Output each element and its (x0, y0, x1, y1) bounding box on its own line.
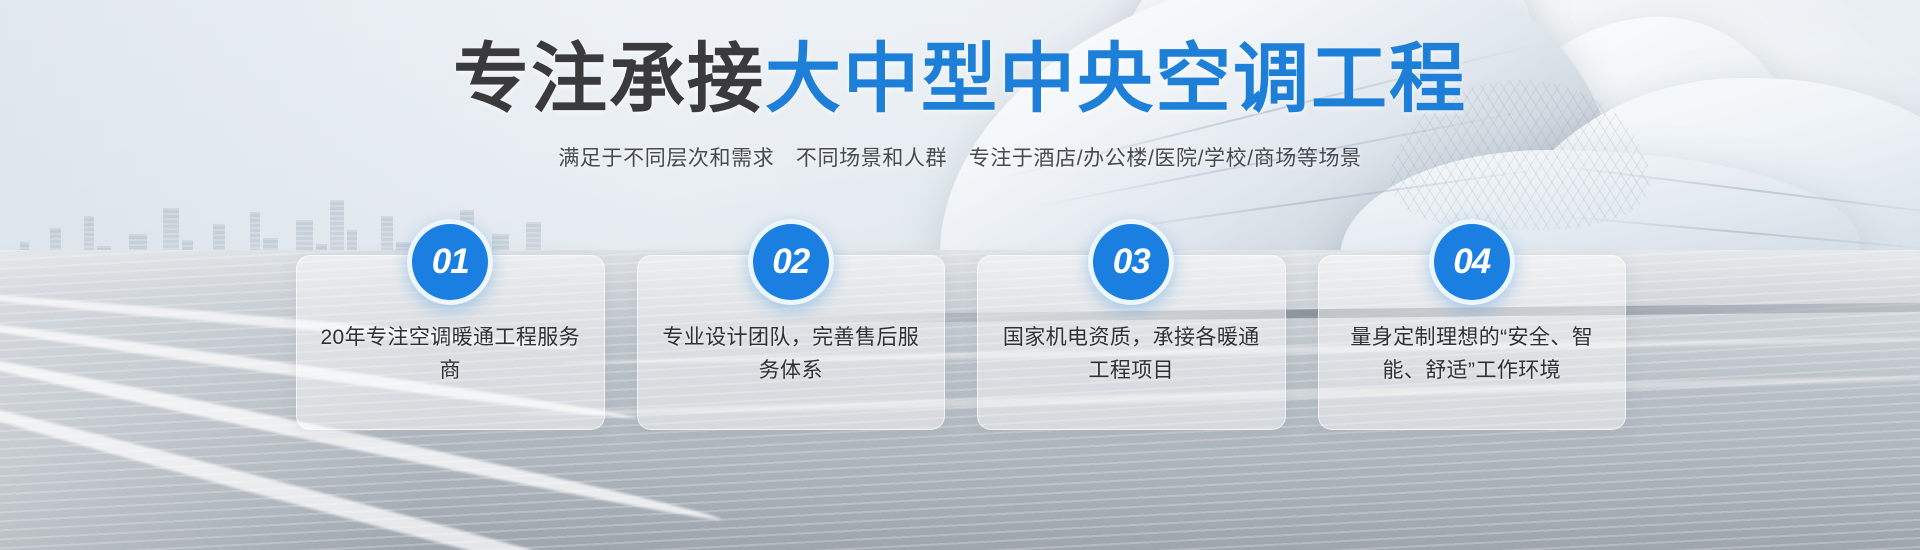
banner-content: 专注承接大中型中央空调工程 满足于不同层次和需求 不同场景和人群 专注于酒店/办… (0, 0, 1920, 550)
feature-card-02[interactable]: 02 专业设计团队，完善售后服务体系 (637, 255, 946, 430)
banner-subheadline: 满足于不同层次和需求 不同场景和人群 专注于酒店/办公楼/医院/学校/商场等场景 (0, 142, 1920, 172)
feature-card-01[interactable]: 01 20年专注空调暖通工程服务商 (296, 255, 605, 430)
card-text: 专业设计团队，完善售后服务体系 (656, 322, 927, 387)
card-text: 20年专注空调暖通工程服务商 (315, 322, 586, 387)
feature-card-list: 01 20年专注空调暖通工程服务商 02 专业设计团队，完善售后服务体系 03 … (296, 255, 1626, 430)
hero-banner: 专注承接大中型中央空调工程 满足于不同层次和需求 不同场景和人群 专注于酒店/办… (0, 0, 1920, 550)
banner-headline: 专注承接大中型中央空调工程 (0, 42, 1920, 118)
card-number-badge: 01 (407, 219, 493, 305)
headline-blue-text: 大中型中央空调工程 (765, 37, 1467, 122)
feature-card-03[interactable]: 03 国家机电资质，承接各暖通工程项目 (977, 255, 1286, 430)
card-number-badge: 04 (1429, 219, 1515, 305)
card-text: 国家机电资质，承接各暖通工程项目 (996, 322, 1267, 387)
card-text: 量身定制理想的“安全、智能、舒适”工作环境 (1337, 322, 1608, 387)
headline-dark-text: 专注承接 (453, 37, 765, 122)
card-number-badge: 03 (1088, 219, 1174, 305)
feature-card-04[interactable]: 04 量身定制理想的“安全、智能、舒适”工作环境 (1318, 255, 1627, 430)
card-number-badge: 02 (748, 219, 834, 305)
